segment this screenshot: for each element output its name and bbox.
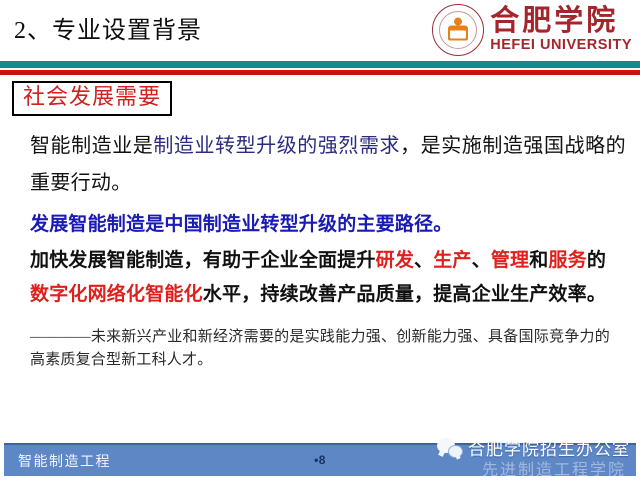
body-content: 智能制造业是制造业转型升级的强烈需求，是实施制造强国战略的重要行动。 发展智能制… bbox=[30, 128, 626, 372]
seal-body-shape bbox=[448, 26, 468, 41]
para3-segment-6: 、 bbox=[472, 250, 491, 271]
para3-keyword-digital: 数字化网络化智能化 bbox=[30, 284, 203, 305]
para3-segment-10: 的 bbox=[587, 250, 606, 271]
seal-head-shape bbox=[454, 18, 462, 26]
paragraph-two: 发展智能制造是中国制造业转型升级的主要路径。 bbox=[30, 208, 626, 242]
paragraph-one: 智能制造业是制造业转型升级的强烈需求，是实施制造强国战略的重要行动。 bbox=[30, 128, 626, 202]
para3-keyword-production: 生产 bbox=[433, 250, 471, 271]
logo-name-en: HEFEI UNIVERSITY bbox=[490, 37, 632, 54]
para3-keyword-rd: 研发 bbox=[376, 250, 414, 271]
slide-canvas: 2、专业设置背景 合肥学院 HEFEI UNIVERSITY 社会发展需要 智能… bbox=[0, 0, 640, 480]
paragraph-note: ————未来新兴产业和新经济需要的是实践能力强、创新能力强、具备国际竞争力的高素… bbox=[30, 326, 610, 372]
para3-segment-8: 和 bbox=[529, 250, 548, 271]
section-header-label: 社会发展需要 bbox=[23, 85, 161, 110]
para1-segment-blue: 制造业转型升级的强烈需求 bbox=[153, 135, 400, 157]
page-title: 2、专业设置背景 bbox=[14, 10, 202, 45]
footer-bar: 智能制造工程 •8 bbox=[4, 443, 636, 476]
paragraph-three: 加快发展智能制造，有助于企业全面提升研发、生产、管理和服务的数字化网络化智能化水… bbox=[30, 244, 622, 312]
seal-figure-icon bbox=[447, 18, 469, 42]
section-header-box: 社会发展需要 bbox=[12, 81, 172, 116]
para1-segment-black-a: 智能制造业是 bbox=[30, 135, 153, 157]
para3-segment-1: 加快发展智能制造， bbox=[30, 250, 203, 271]
para3-keyword-management: 管理 bbox=[491, 250, 529, 271]
para3-keyword-service: 服务 bbox=[548, 250, 586, 271]
page-number: •8 bbox=[314, 453, 326, 467]
para3-segment-2: 有助于企业全面提升 bbox=[203, 250, 376, 271]
divider-red bbox=[0, 70, 640, 75]
para3-segment-4: 、 bbox=[414, 250, 433, 271]
logo-text-block: 合肥学院 HEFEI UNIVERSITY bbox=[490, 6, 632, 54]
logo-name-cn: 合肥学院 bbox=[490, 6, 618, 36]
university-logo: 合肥学院 HEFEI UNIVERSITY bbox=[432, 4, 632, 56]
para3-segment-13: 持续改善产品质量，提高企业生产效率。 bbox=[260, 284, 606, 305]
divider-teal bbox=[0, 61, 640, 68]
university-seal-icon bbox=[432, 4, 484, 56]
para3-segment-12: 水平， bbox=[203, 284, 261, 305]
footer-left-label: 智能制造工程 bbox=[18, 451, 111, 471]
